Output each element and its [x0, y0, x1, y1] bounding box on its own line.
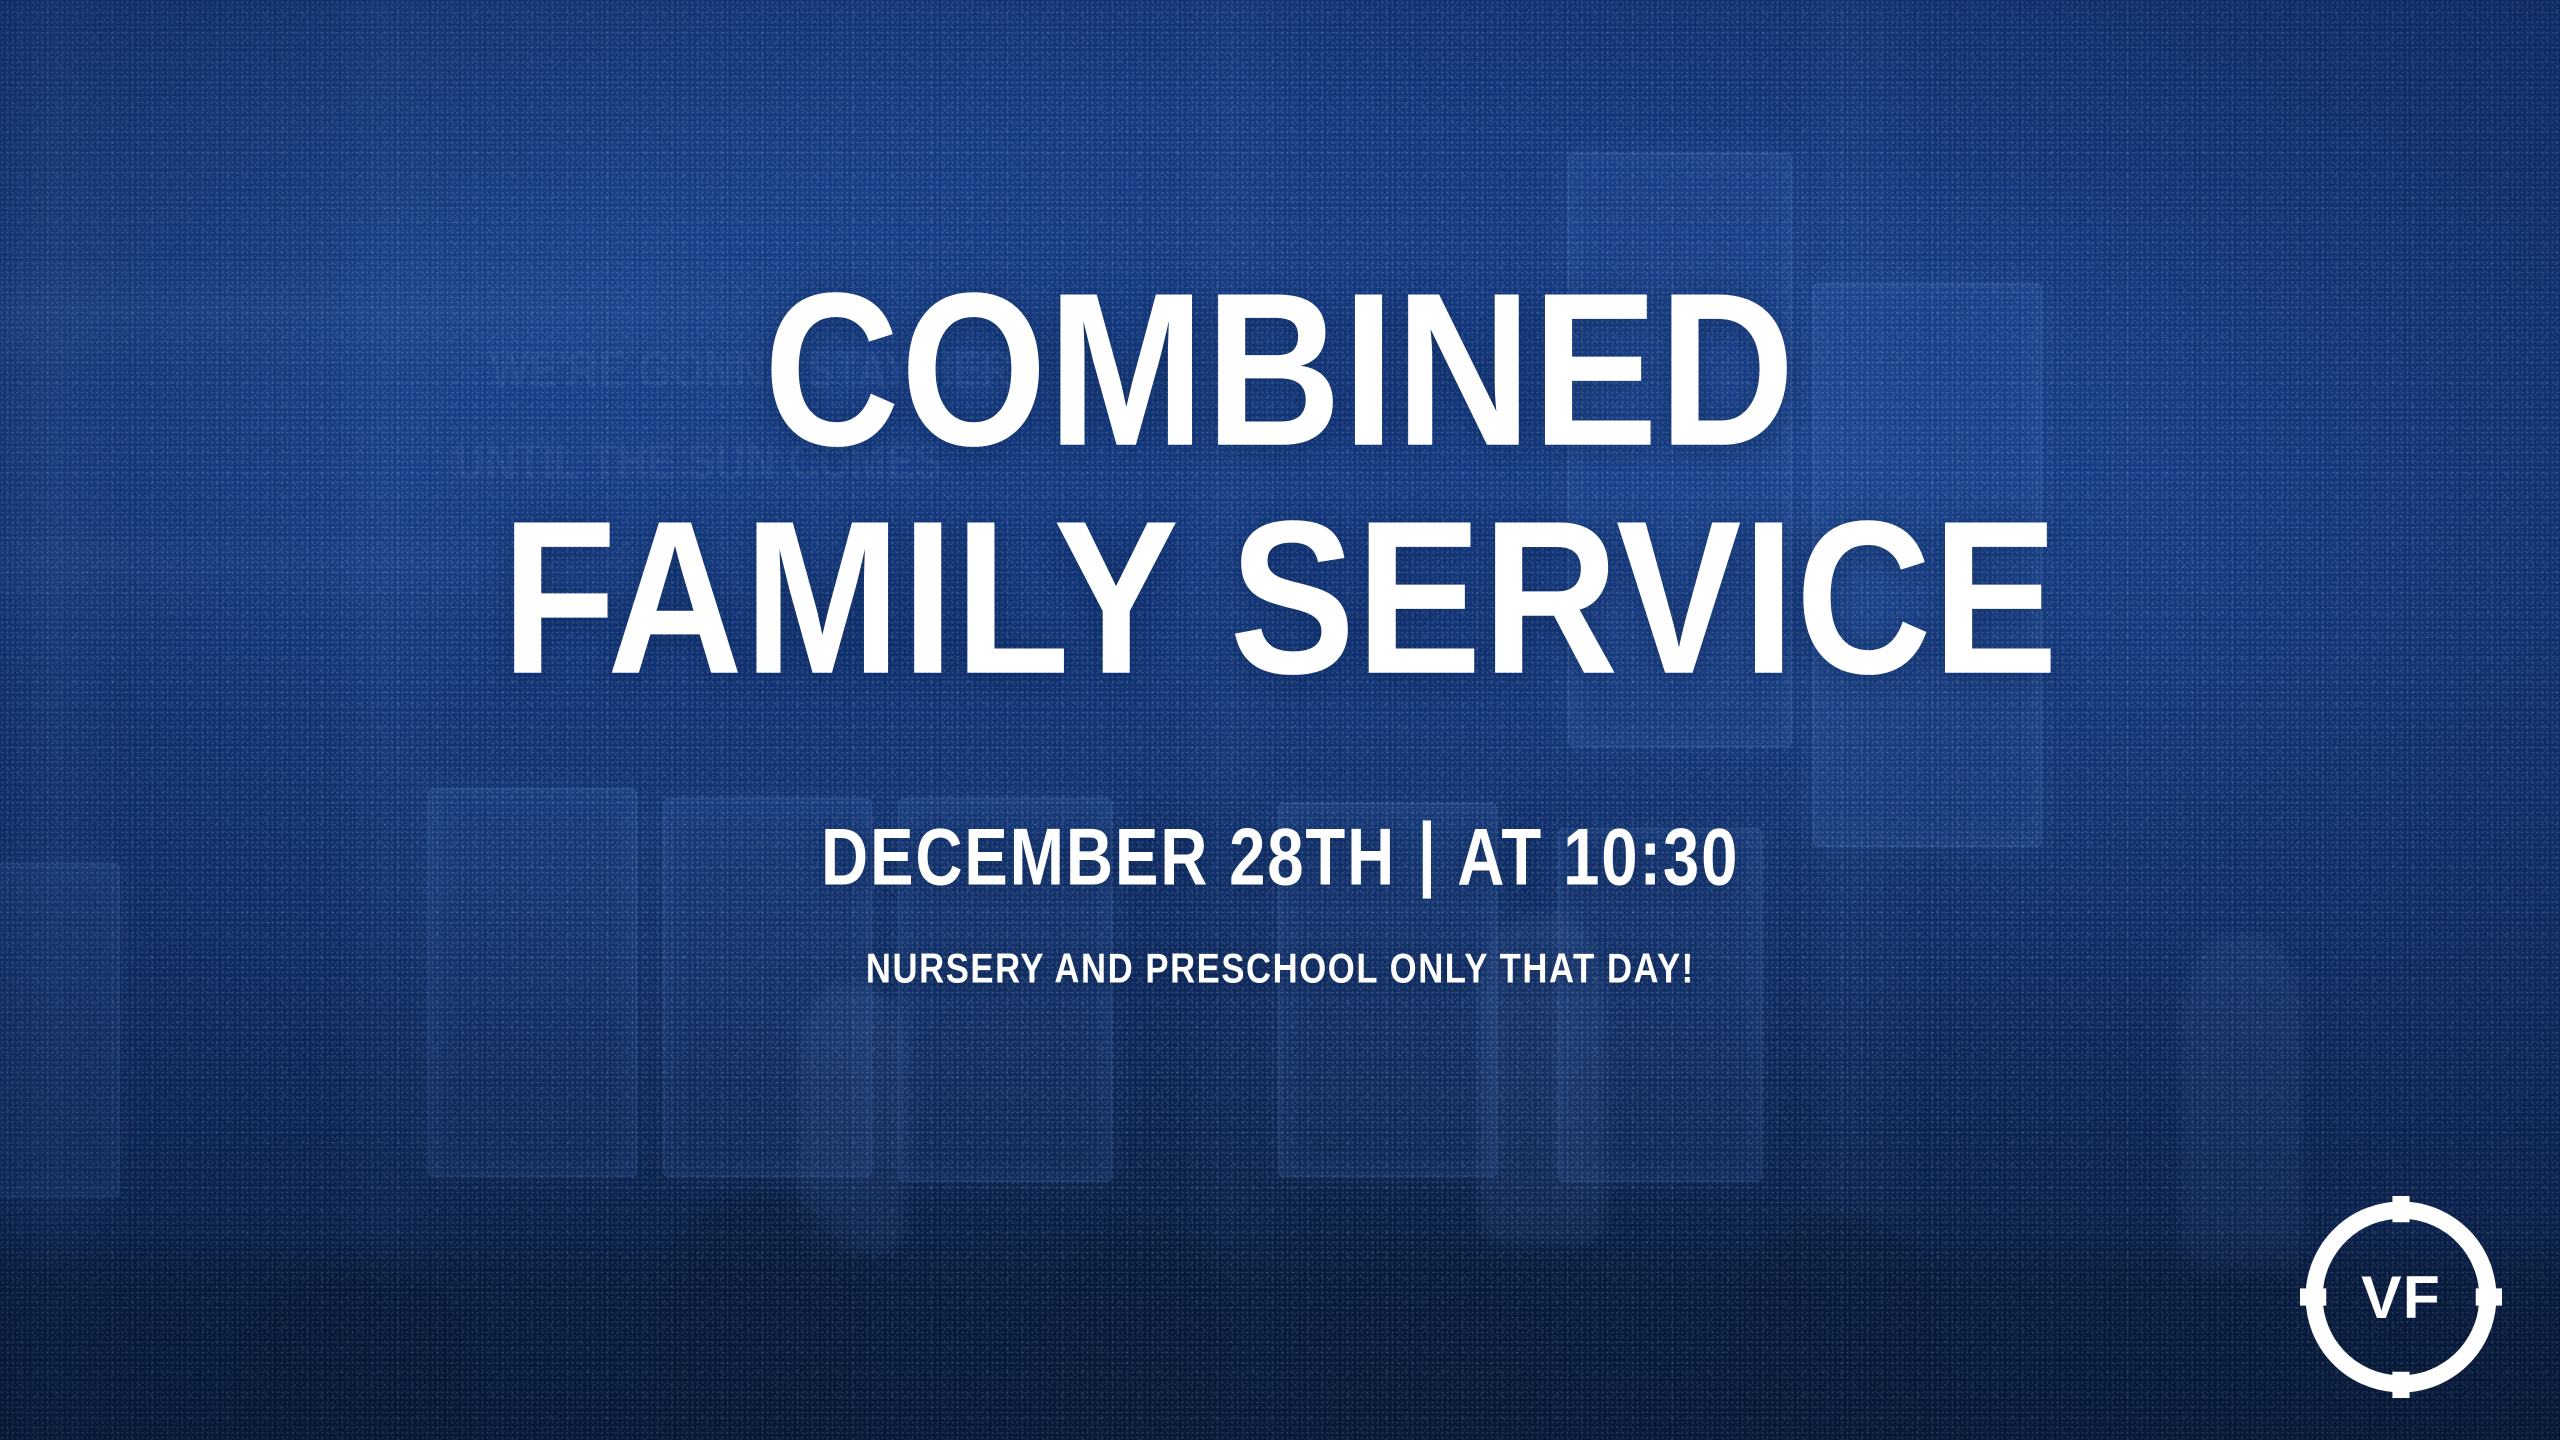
headline-line-1: COMBINED: [764, 268, 1796, 471]
event-time: AT 10:30: [1457, 811, 1739, 904]
childcare-note: NURSERY AND PRESCHOOL ONLY THAT DAY!: [866, 946, 1695, 994]
headline-line-2: FAMILY SERVICE: [501, 496, 2058, 699]
divider-pipe-icon: [1423, 821, 1431, 899]
date-time-line: DECEMBER 28TH AT 10:30: [821, 811, 1739, 904]
announcement-graphic: WE'RE GONNA STAY HERE UNTIL THE SUN COME…: [0, 0, 2560, 1440]
event-date: DECEMBER 28TH: [821, 811, 1396, 904]
vf-target-logo: VF: [2300, 1196, 2502, 1398]
logo-letters: VF: [2361, 1263, 2441, 1331]
content-stack: COMBINED FAMILY SERVICE DECEMBER 28TH AT…: [0, 0, 2560, 1440]
